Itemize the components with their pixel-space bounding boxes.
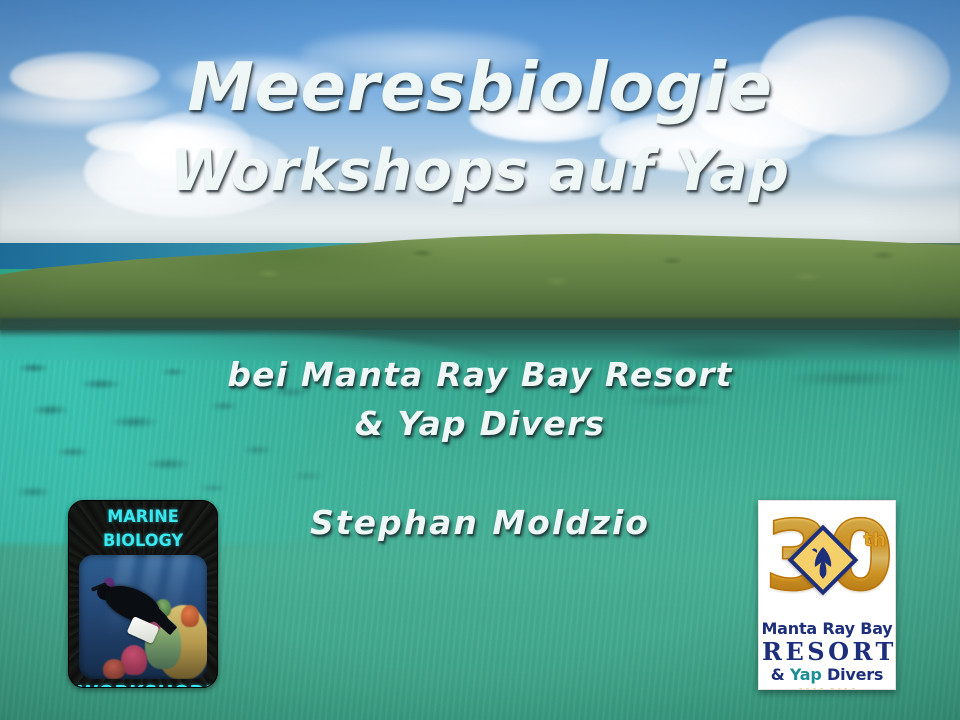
years-divider: 1986–2016	[759, 688, 895, 690]
slide-title-line-2: Workshops auf Yap	[0, 142, 960, 202]
manta-ray-bay-resort-logo: 30 th Manta Ray Bay RESORT & Yap Divers …	[758, 500, 896, 690]
venue-line-2: & Yap Divers	[0, 404, 960, 443]
resort-name-line-3-suffix: Divers	[822, 665, 884, 684]
resort-name-line-3-accent: Yap	[790, 665, 822, 684]
resort-wordmark: Manta Ray Bay RESORT & Yap Divers 1986–2…	[759, 619, 895, 690]
marine-biology-workshops-logo: MARINE BIOLOGY WORKSHOPS	[68, 500, 218, 688]
slide-title-line-1: Meeresbiologie	[0, 52, 960, 122]
resort-name-line-3-prefix: &	[771, 665, 790, 684]
anniversary-suffix: th	[863, 529, 886, 551]
coral-formation	[181, 605, 199, 627]
coral-formation	[103, 659, 125, 679]
scuba-diver-photo	[79, 555, 207, 679]
venue-line-1: bei Manta Ray Bay Resort	[0, 355, 960, 394]
resort-name-line-2: RESORT	[759, 638, 895, 665]
resort-name-line-1: Manta Ray Bay	[759, 619, 895, 638]
manta-ray-icon	[803, 543, 843, 583]
resort-name-line-3: & Yap Divers	[759, 665, 895, 685]
anniversary-mark: 30 th	[759, 505, 895, 617]
anniversary-years: 1986–2016	[798, 688, 856, 690]
badge-top-label: MARINE BIOLOGY	[77, 505, 208, 553]
badge-bottom-label: WORKSHOPS	[77, 680, 208, 688]
presentation-title-slide: Meeresbiologie Workshops auf Yap bei Man…	[0, 0, 960, 720]
